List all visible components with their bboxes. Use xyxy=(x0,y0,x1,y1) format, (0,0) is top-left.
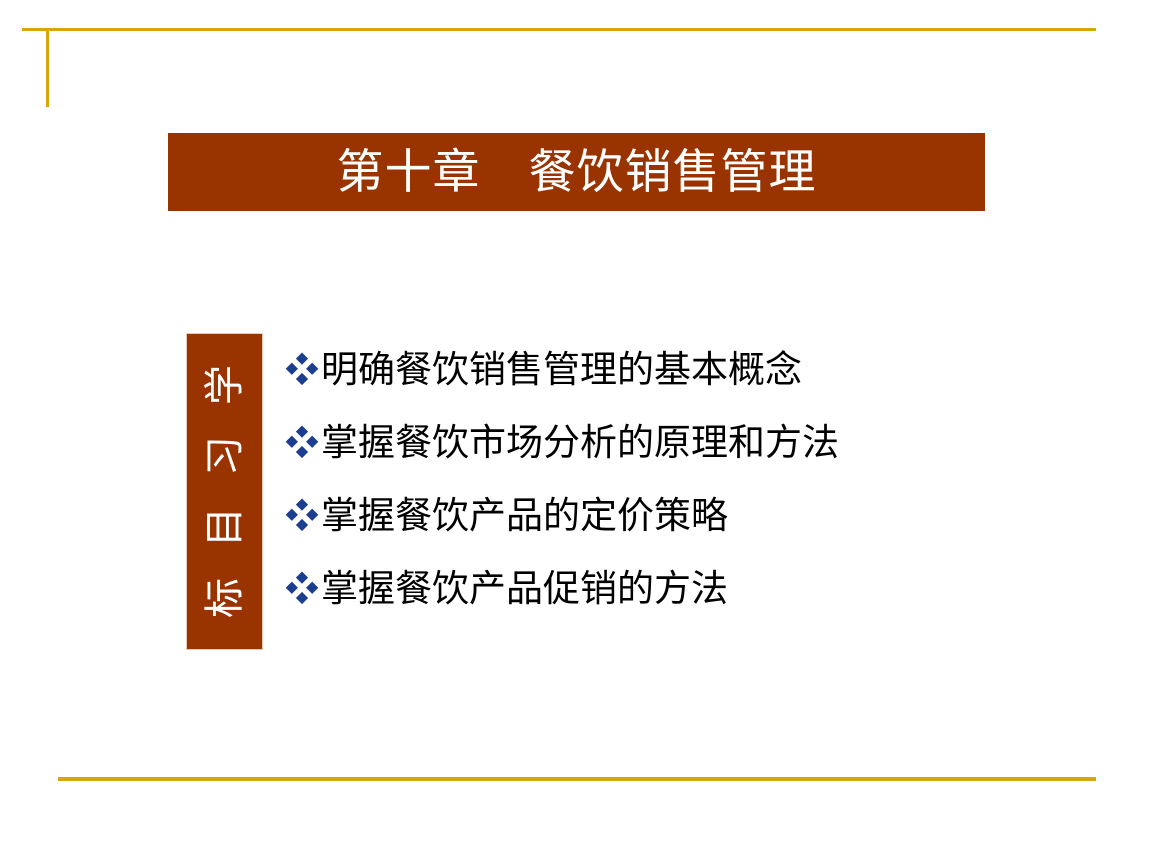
diamond-bullet-icon: ❖ xyxy=(285,354,319,388)
objective-text: 明确餐饮销售管理的基本概念 xyxy=(321,351,802,388)
top-rule-horizontal xyxy=(22,28,1096,31)
list-item: ❖ 掌握餐饮产品的定价策略 xyxy=(285,497,926,570)
diamond-bullet-icon: ❖ xyxy=(285,500,319,534)
title-banner: 第十章 餐饮销售管理 xyxy=(168,133,985,211)
tab-char-4: 标 xyxy=(205,578,245,618)
list-item: ❖ 明确餐饮销售管理的基本概念 xyxy=(285,351,926,424)
objective-text: 掌握餐饮市场分析的原理和方法 xyxy=(321,424,839,461)
learning-objectives-block: 学 习 目 标 ❖ 明确餐饮销售管理的基本概念 ❖ 掌握餐饮市场分析的原理和方法… xyxy=(186,333,926,650)
learning-objectives-tab: 学 习 目 标 xyxy=(186,333,263,650)
tab-char-3: 目 xyxy=(205,507,245,547)
objectives-list: ❖ 明确餐饮销售管理的基本概念 ❖ 掌握餐饮市场分析的原理和方法 ❖ 掌握餐饮产… xyxy=(285,333,926,650)
page-title: 第十章 餐饮销售管理 xyxy=(337,149,817,196)
slide-canvas: 第十章 餐饮销售管理 学 习 目 标 ❖ 明确餐饮销售管理的基本概念 ❖ 掌握餐… xyxy=(0,0,1152,864)
objective-text: 掌握餐饮产品促销的方法 xyxy=(321,570,728,607)
diamond-bullet-icon: ❖ xyxy=(285,427,319,461)
diamond-bullet-icon: ❖ xyxy=(285,573,319,607)
list-item: ❖ 掌握餐饮市场分析的原理和方法 xyxy=(285,424,926,497)
top-rule-vertical xyxy=(46,28,49,107)
objective-text: 掌握餐饮产品的定价策略 xyxy=(321,497,728,534)
tab-char-1: 学 xyxy=(205,365,245,405)
tab-char-2: 习 xyxy=(205,436,245,476)
bottom-rule xyxy=(58,777,1096,781)
list-item: ❖ 掌握餐饮产品促销的方法 xyxy=(285,570,926,643)
